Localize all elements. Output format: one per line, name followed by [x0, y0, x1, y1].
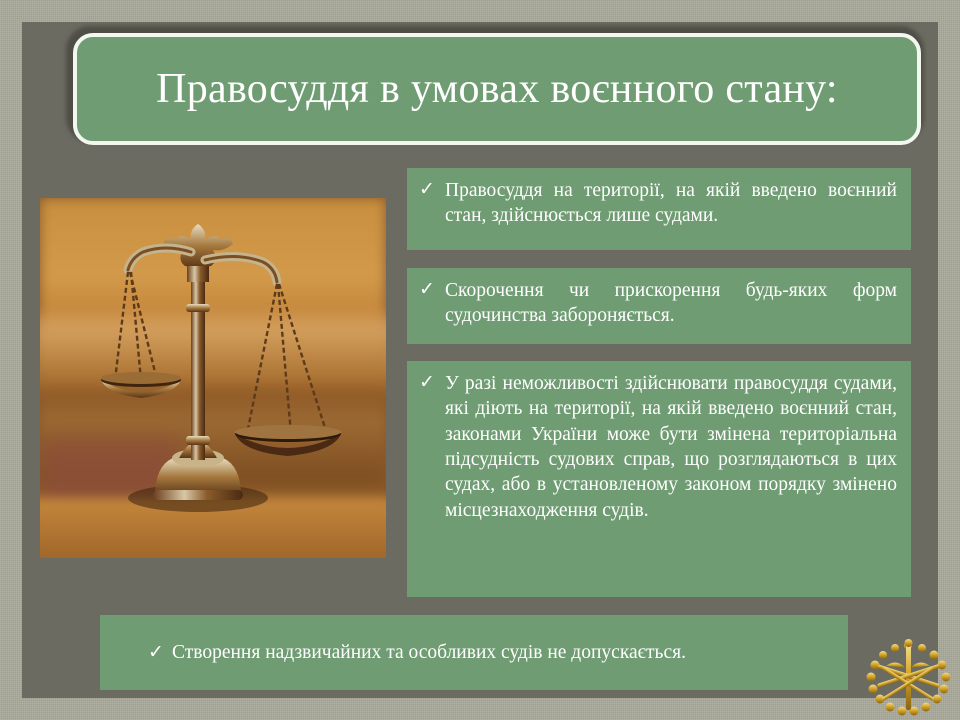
bullet-row: ✓ Скорочення чи прискорення будь-яких фо… — [419, 278, 897, 329]
scales-illustration — [95, 208, 355, 538]
bullet-box-1: ✓ Правосуддя на території, на якій введе… — [407, 168, 911, 250]
checkmark-icon: ✓ — [419, 371, 445, 395]
page-title: Правосуддя в умовах воєнного стану: — [132, 67, 862, 111]
gold-emblem-icon — [862, 638, 954, 716]
bullet-text-2: Скорочення чи прискорення будь-яких форм… — [445, 278, 897, 329]
bullet-box-3: ✓ У разі неможливості здійснювати правос… — [407, 361, 911, 597]
justice-scales-photo — [40, 198, 386, 558]
bullet-box-4: ✓ Створення надзвичайних та особливих су… — [100, 615, 848, 690]
checkmark-icon: ✓ — [419, 278, 445, 302]
title-box: Правосуддя в умовах воєнного стану: — [73, 33, 921, 145]
bullet-text-4: Створення надзвичайних та особливих суді… — [172, 640, 848, 665]
checkmark-icon: ✓ — [419, 178, 445, 202]
slide: Правосуддя в умовах воєнного стану: — [0, 0, 960, 720]
bullet-row: ✓ Правосуддя на території, на якій введе… — [419, 178, 897, 229]
bullet-row: ✓ У разі неможливості здійснювати правос… — [419, 371, 897, 523]
bullet-text-3: У разі неможливості здійснювати правосуд… — [445, 371, 897, 523]
bullet-text-1: Правосуддя на території, на якій введено… — [445, 178, 897, 229]
bullet-box-2: ✓ Скорочення чи прискорення будь-яких фо… — [407, 268, 911, 344]
checkmark-icon: ✓ — [148, 641, 172, 665]
